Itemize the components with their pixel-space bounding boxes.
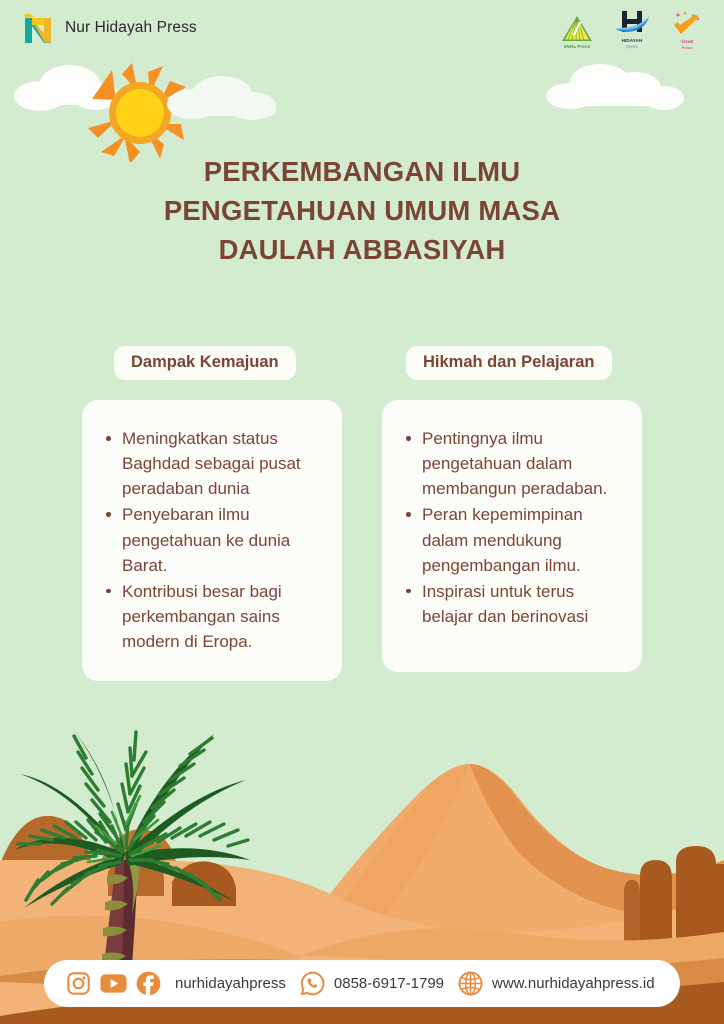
- poster-canvas: Nur Hidayah Press eNHa Press: [0, 0, 724, 1024]
- izzah-press-caption: 'izzah: [666, 40, 708, 45]
- bullet-list-dampak: Meningkatkan status Baghdad sebagai pusa…: [96, 426, 322, 654]
- sky-decoration: [0, 52, 724, 162]
- youtube-icon[interactable]: [100, 973, 127, 994]
- card-hikmah-pelajaran: Pentingnya ilmu pengetahuan dalam memban…: [382, 400, 642, 672]
- content-columns: Dampak Kemajuan Meningkatkan status Bagh…: [0, 346, 724, 681]
- globe-icon[interactable]: [458, 971, 483, 996]
- social-handle: nurhidayahpress: [175, 975, 286, 992]
- partner-logos: eNHa Press HIDAYAH press: [556, 8, 708, 50]
- enha-press-caption: eNHa Press: [556, 45, 598, 50]
- cloud-icon-center: [167, 76, 276, 120]
- facebook-icon[interactable]: [136, 971, 161, 996]
- bullet-list-hikmah: Pentingnya ilmu pengetahuan dalam memban…: [396, 426, 622, 629]
- list-item: Inspirasi untuk terus belajar dan berino…: [396, 579, 622, 629]
- izzah-check-icon: [668, 11, 706, 39]
- hidayah-h-icon: [613, 8, 651, 38]
- izzah-press-sub: Press: [666, 46, 708, 50]
- list-item: Meningkatkan status Baghdad sebagai pusa…: [96, 426, 322, 501]
- website-url: www.nurhidayahpress.id: [492, 975, 655, 992]
- izzah-press-logo: 'izzah Press: [666, 11, 708, 50]
- instagram-icon[interactable]: [66, 971, 91, 996]
- list-item: Penyebaran ilmu pengetahuan ke dunia Bar…: [96, 502, 322, 577]
- title-line-2: PENGETAHUAN UMUM MASA: [50, 191, 674, 230]
- nhp-n-logo-icon: [22, 11, 54, 45]
- title-line-3: DAULAH ABBASIYAH: [50, 230, 674, 269]
- whatsapp-icon[interactable]: [300, 971, 325, 996]
- brand-name: Nur Hidayah Press: [65, 19, 197, 37]
- list-item: Peran kepemimpinan dalam mendukung penge…: [396, 502, 622, 577]
- column-dampak-kemajuan: Dampak Kemajuan Meningkatkan status Bagh…: [82, 346, 342, 681]
- header-bar: Nur Hidayah Press eNHa Press: [0, 0, 724, 56]
- brand-block: Nur Hidayah Press: [22, 11, 197, 45]
- section-heading-dampak: Dampak Kemajuan: [114, 346, 296, 380]
- list-item: Kontribusi besar bagi perkembangan sains…: [96, 579, 322, 654]
- list-item: Pentingnya ilmu pengetahuan dalam memban…: [396, 426, 622, 501]
- hidayah-press-sub: press: [611, 45, 653, 50]
- cloud-icon-right: [546, 64, 684, 110]
- page-title: PERKEMBANGAN ILMU PENGETAHUAN UMUM MASA …: [50, 152, 674, 269]
- title-line-1: PERKEMBANGAN ILMU: [50, 152, 674, 191]
- section-heading-hikmah: Hikmah dan Pelajaran: [406, 346, 612, 380]
- footer-contact-bar: nurhidayahpress 0858-6917-1799 www.nurhi…: [44, 960, 680, 1007]
- hidayah-press-logo: HIDAYAH press: [611, 8, 653, 50]
- enha-press-logo: eNHa Press: [556, 14, 598, 50]
- phone-number: 0858-6917-1799: [334, 975, 444, 992]
- card-dampak-kemajuan: Meningkatkan status Baghdad sebagai pusa…: [82, 400, 342, 681]
- enha-triangle-icon: [559, 14, 595, 44]
- column-hikmah-pelajaran: Hikmah dan Pelajaran Pentingnya ilmu pen…: [382, 346, 642, 681]
